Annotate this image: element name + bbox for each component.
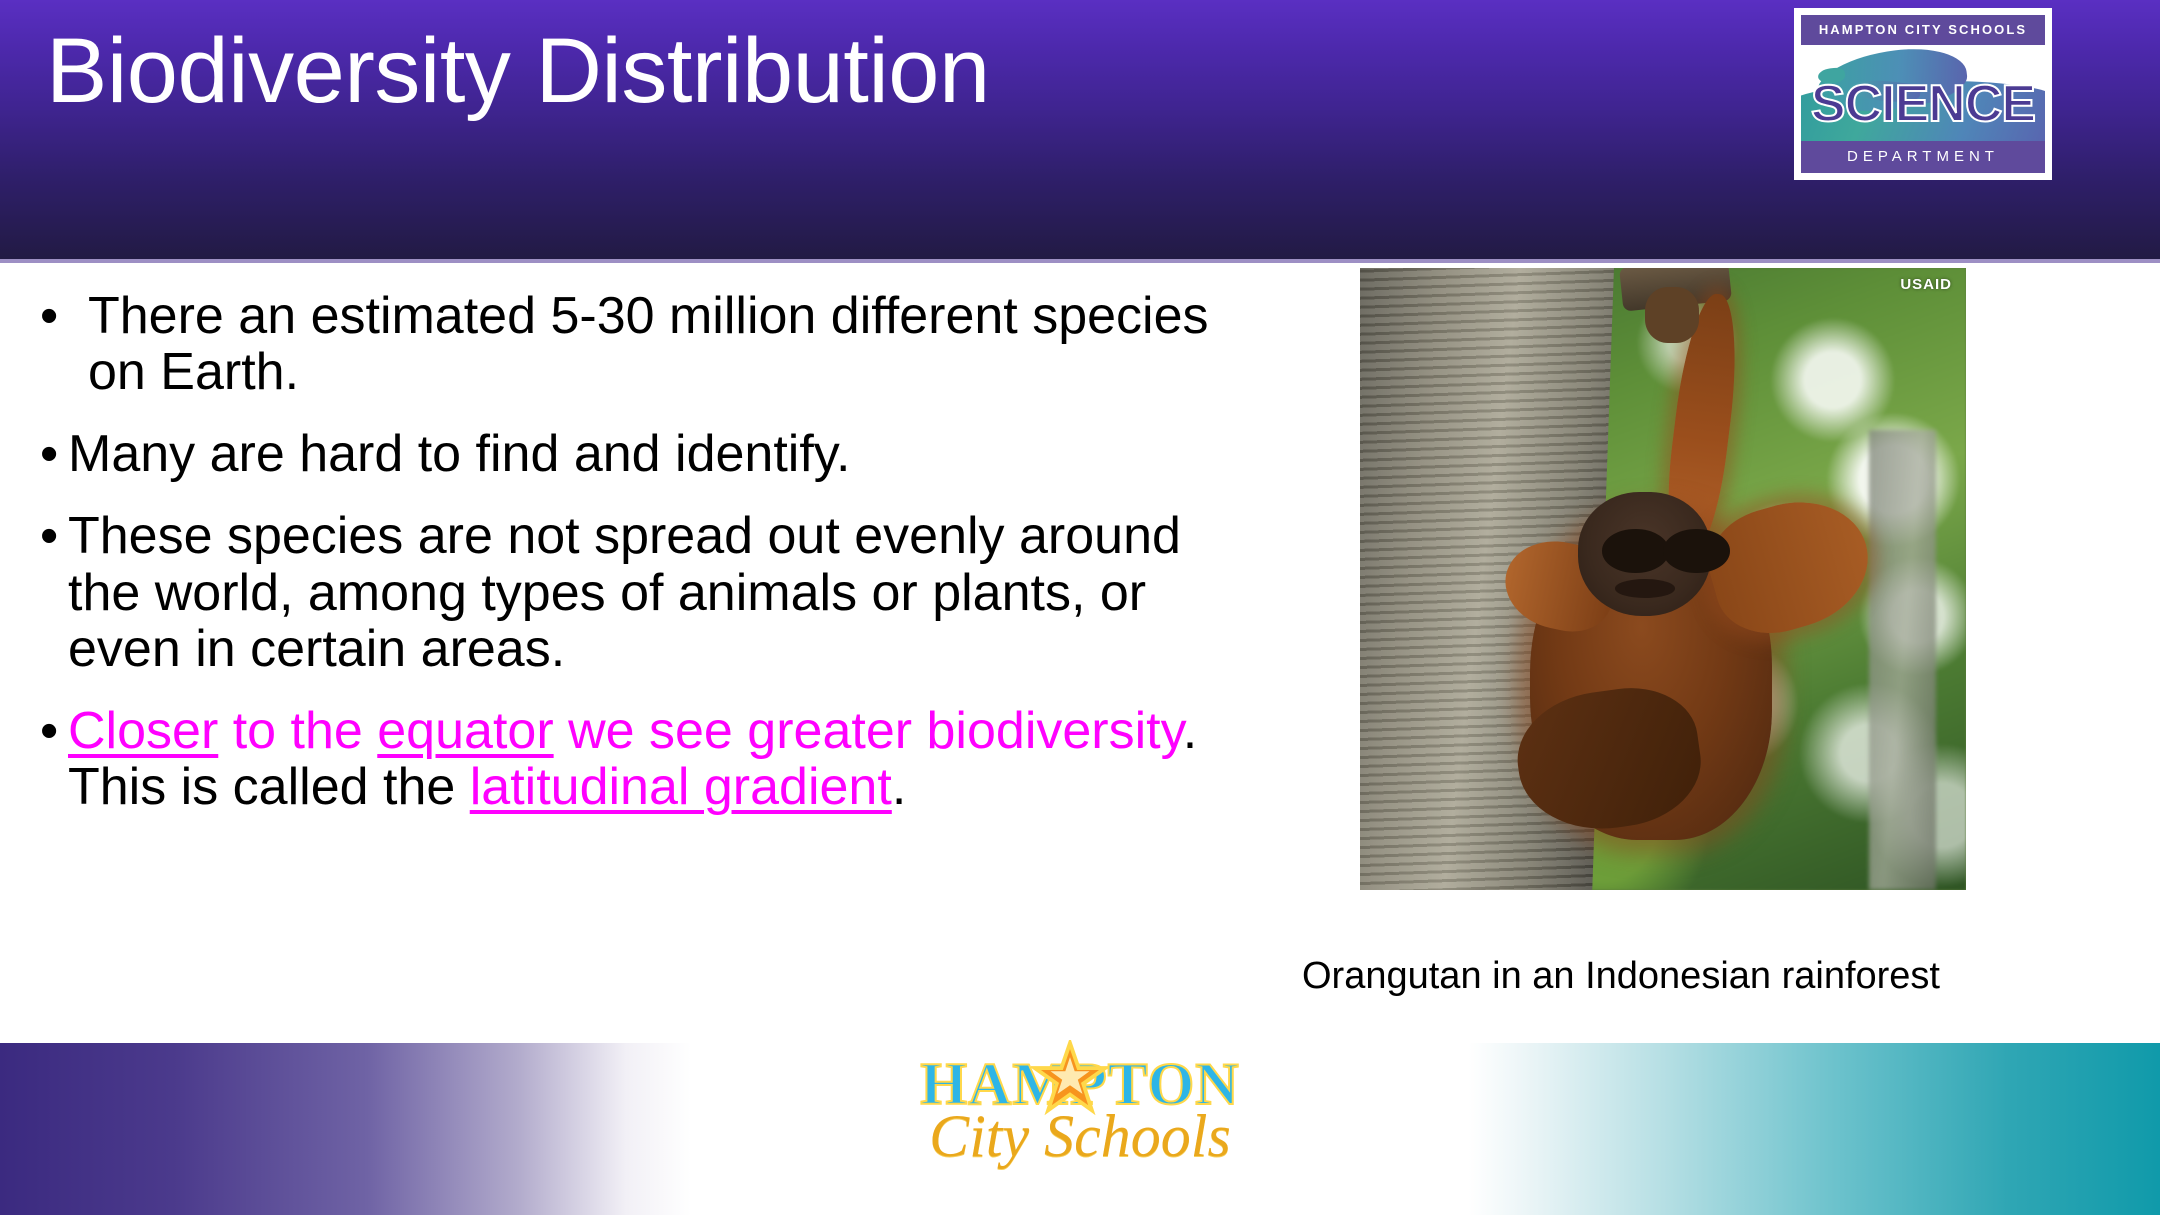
bullet-marker: •	[40, 508, 58, 564]
bullet-text-3: These species are not spread out evenly …	[68, 507, 1181, 677]
usaid-watermark: USAID	[1900, 276, 1952, 293]
orangutan-right-eye	[1663, 529, 1730, 573]
bullet-marker: •	[40, 703, 58, 759]
bullet-item-4: •Closer to the equator we see greater bi…	[34, 703, 1234, 815]
bullet-text-1: There an estimated 5-30 million differen…	[88, 287, 1209, 401]
orangutan-mouth	[1615, 579, 1676, 598]
background-tree-trunk	[1869, 430, 1936, 890]
bullet-text-4-a: to the	[218, 702, 377, 760]
science-logo-wordmark: SCIENCE	[1801, 78, 2045, 130]
bullet-text-4-d: .	[892, 758, 906, 816]
bullet-item-3: •These species are not spread out evenly…	[34, 508, 1234, 676]
keyword-equator: equator	[377, 702, 553, 760]
hampton-city-schools-logo: HAMPTON City Schools	[920, 1032, 1240, 1207]
keyword-closer: Closer	[68, 702, 218, 760]
content-placeholder: • There an estimated 5-30 million differ…	[34, 288, 1234, 841]
slide-canvas: Biodiversity Distribution HAMPTON CITY S…	[0, 0, 2160, 1215]
bullet-text-4-b: we see greater biodiversity	[554, 702, 1183, 760]
science-logo-top-text: HAMPTON CITY SCHOOLS	[1801, 15, 2045, 45]
bullet-marker: •	[40, 426, 58, 482]
bullet-text-2: Many are hard to find and identify.	[68, 425, 850, 483]
bullet-marker: •	[40, 288, 58, 344]
header-divider-rule	[0, 259, 2160, 263]
bullet-item-2: •Many are hard to find and identify.	[34, 426, 1234, 482]
city-schools-script: City Schools	[920, 1106, 1240, 1166]
science-logo-bottom-text: DEPARTMENT	[1801, 141, 2045, 173]
science-logo-artwork: SCIENCE	[1801, 45, 2045, 141]
science-logo-frame: HAMPTON CITY SCHOOLS SCIENCE DEPARTMENT	[1798, 12, 2048, 176]
page-title: Biodiversity Distribution	[46, 22, 990, 121]
orangutan-hand	[1645, 287, 1700, 343]
keyword-latitudinal-gradient: latitudinal gradient	[470, 758, 892, 816]
photo-caption: Orangutan in an Indonesian rainforest	[1302, 955, 1940, 998]
science-department-logo: HAMPTON CITY SCHOOLS SCIENCE DEPARTMENT	[1794, 8, 2052, 180]
orangutan-photo: USAID	[1360, 268, 1966, 890]
bullet-item-1: • There an estimated 5-30 million differ…	[34, 288, 1234, 400]
orangutan-left-eye	[1602, 529, 1669, 573]
